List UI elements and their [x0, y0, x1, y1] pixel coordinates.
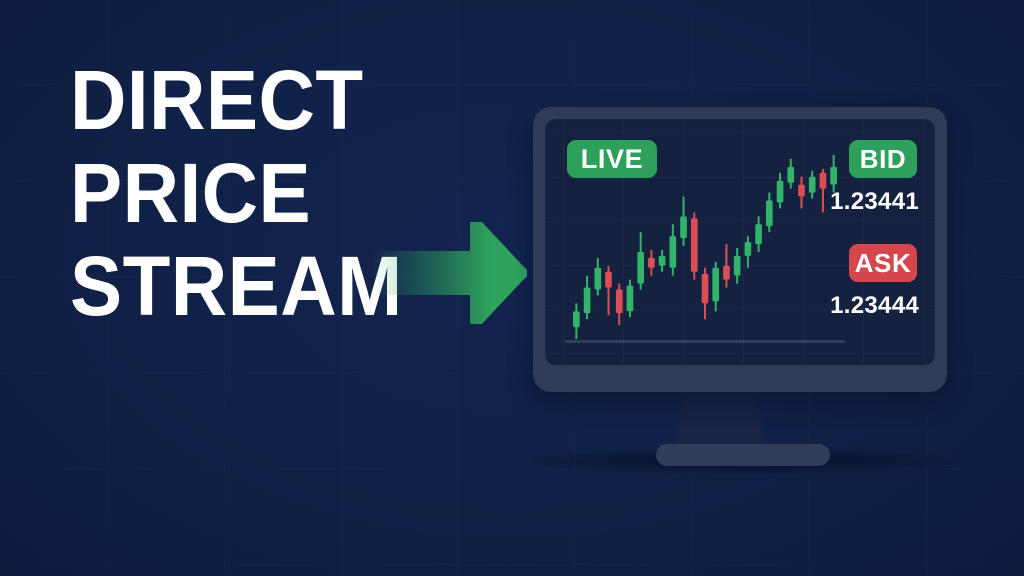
candle-body: [820, 173, 827, 189]
right-arrow-icon: [372, 222, 527, 324]
chart-axis-line: [565, 340, 845, 343]
monitor-base: [656, 444, 830, 466]
headline-line-1: DIRECT: [70, 54, 461, 147]
candle-wick: [725, 244, 727, 288]
candle-body: [691, 218, 698, 271]
candle-body: [637, 252, 644, 284]
monitor-screen: LIVE BID 1.23441 ASK 1.23444: [545, 119, 935, 365]
candle-body: [680, 216, 687, 238]
candle-body: [584, 288, 591, 314]
candle-body: [712, 268, 719, 302]
candle-body: [627, 286, 634, 312]
candle-body: [648, 258, 655, 268]
bid-badge[interactable]: BID: [849, 140, 917, 178]
monitor-frame: LIVE BID 1.23441 ASK 1.23444: [533, 107, 947, 392]
candle-body: [830, 167, 837, 185]
candle-body: [798, 185, 805, 197]
candle-body: [616, 290, 623, 314]
poster-canvas: DIRECT PRICE STREAM LIVE BID 1.23441 AS: [0, 0, 1024, 576]
candle-body: [777, 181, 784, 203]
ask-badge[interactable]: ASK: [849, 244, 917, 282]
candle-body: [787, 167, 794, 183]
live-status-badge[interactable]: LIVE: [567, 140, 657, 178]
candle-body: [734, 256, 741, 276]
candle-body: [670, 236, 677, 268]
candle-body: [659, 256, 666, 266]
monitor-neck: [672, 388, 768, 450]
bid-price-value: 1.23441: [809, 188, 919, 216]
candle-body: [605, 272, 612, 288]
candle-body: [573, 311, 580, 327]
candle-body: [745, 242, 752, 256]
candle-body: [723, 266, 730, 280]
candle-body: [594, 268, 601, 290]
candle-body: [702, 274, 709, 304]
candle-body: [766, 201, 773, 227]
candle-body: [755, 224, 762, 244]
ask-price-value: 1.23444: [809, 292, 919, 320]
